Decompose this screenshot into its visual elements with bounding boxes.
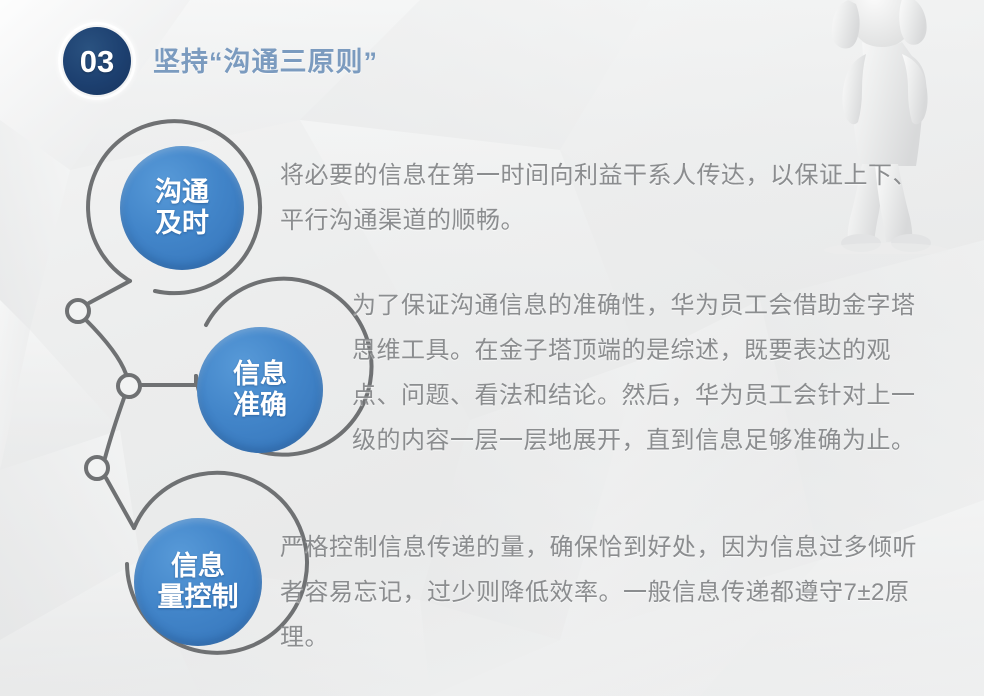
principle-body-text-3: 严格控制信息传递的量，确保恰到好处，因为信息过多倾听者容易忘记，过少则降低效率。… [280, 525, 925, 660]
slide-canvas: 03 坚持“沟通三原则” [0, 0, 984, 696]
connector-node-2 [118, 375, 140, 397]
slide-header: 03 坚持“沟通三原则” [0, 0, 984, 112]
principle-label-3-line1: 信息 [171, 551, 225, 582]
page-title: 坚持“沟通三原则” [153, 40, 378, 79]
principle-body-text-2: 为了保证沟通信息的准确性，华为员工会借助金字塔思维工具。在金子塔顶端的是综述，既… [352, 283, 922, 463]
principle-circle-core-2: 信息 准确 [197, 327, 323, 453]
principle-body-text-1: 将必要的信息在第一时间向利益干系人传达，以保证上下、平行沟通渠道的顺畅。 [280, 153, 920, 243]
connector-node-1 [67, 300, 89, 322]
principle-label-1-line1: 沟通 [155, 177, 209, 208]
principle-label-1-line2: 及时 [155, 208, 209, 239]
principle-circle-accurate-information[interactable]: 信息 准确 [172, 302, 348, 478]
connector-2b [105, 398, 124, 458]
principle-label-2-line2: 准确 [233, 390, 287, 421]
principle-label-3-line2: 量控制 [158, 582, 239, 613]
section-number-badge: 03 [58, 22, 136, 100]
principle-circle-timely-communication[interactable]: 沟通 及时 [96, 122, 268, 294]
principle-circle-information-volume-control[interactable]: 信息 量控制 [108, 492, 288, 672]
connector-1b [86, 320, 126, 374]
connector-node-3 [86, 457, 108, 479]
principle-label-2-line1: 信息 [233, 359, 287, 390]
badge-number-text: 03 [80, 46, 114, 77]
badge-circle: 03 [63, 27, 131, 95]
principle-circle-core-3: 信息 量控制 [134, 518, 262, 646]
principle-circle-core-1: 沟通 及时 [120, 146, 244, 270]
